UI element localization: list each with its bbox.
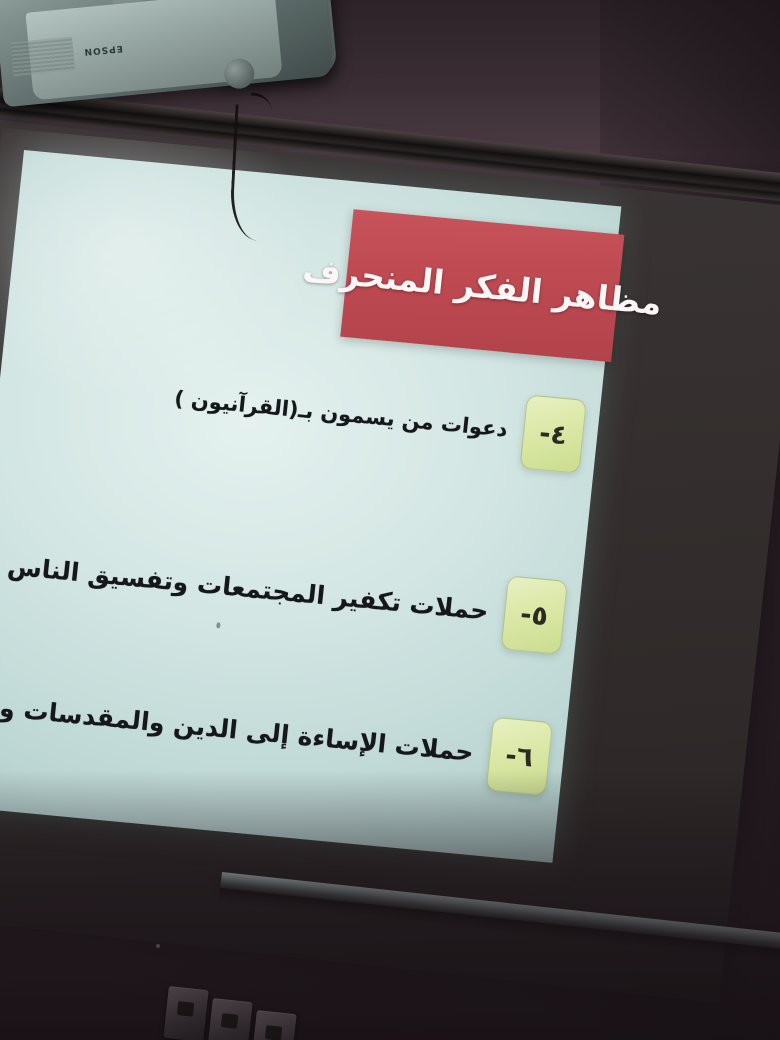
item-text: حملات الإساءة إلى الدين والمقدسات والحكا… <box>0 674 475 766</box>
wall-outlet[interactable] <box>251 1010 296 1040</box>
slide-title-banner: مظاهر الفكر المنحرف <box>340 209 624 362</box>
projector-label-sticker <box>10 37 75 77</box>
slide-item-row: ٥- حملات تكفير المجتمعات وتفسيق الناس وا… <box>0 520 568 655</box>
item-text: حملات تكفير المجتمعات وتفسيق الناس والقت… <box>0 542 490 625</box>
wall-lower-shadow <box>0 770 780 1040</box>
item-text: دعوات من يسمون بـ(القرآنيون ) <box>173 386 508 441</box>
presentation-slide: مظاهر الفكر المنحرف ٤- دعوات من يسمون بـ… <box>0 150 621 863</box>
outlet-socket-icon <box>221 1013 238 1029</box>
slide-item-row: ٤- دعوات من يسمون بـ(القرآنيون ) <box>171 361 587 473</box>
classroom-photo-scene: مظاهر الفكر المنحرف ٤- دعوات من يسمون بـ… <box>0 0 780 1040</box>
item-number-badge: ٤- <box>519 394 586 473</box>
slide-title-text: مظاهر الفكر المنحرف <box>301 249 664 322</box>
outlet-socket-icon <box>177 1001 194 1017</box>
projection-screen: مظاهر الفكر المنحرف ٤- دعوات من يسمون بـ… <box>0 150 621 863</box>
item-number-badge: ٥- <box>500 575 567 654</box>
projector-body: EPSON <box>0 0 333 107</box>
outlet-socket-icon <box>265 1025 282 1040</box>
wall-outlet[interactable] <box>207 998 252 1040</box>
wall-speck <box>156 944 160 948</box>
wall-outlet[interactable] <box>163 986 208 1040</box>
screen-speck <box>216 622 221 628</box>
